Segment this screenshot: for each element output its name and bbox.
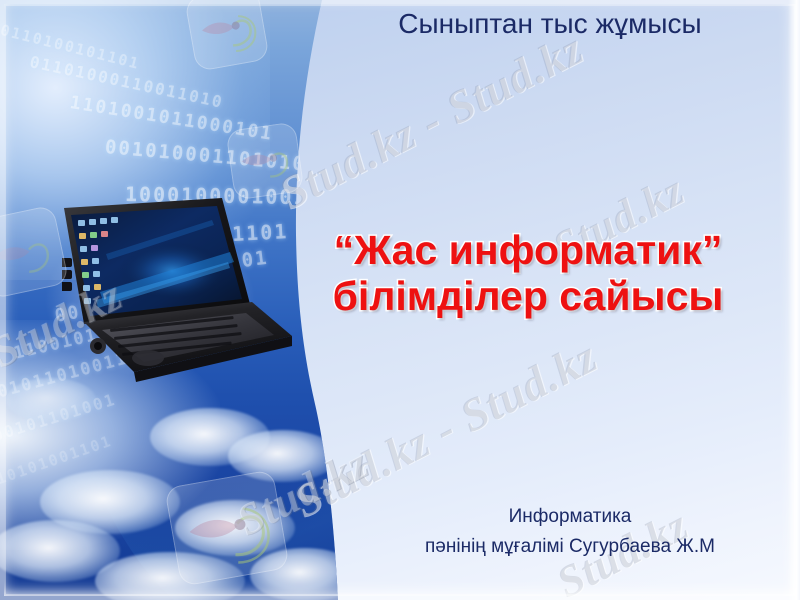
- presentation-slide: 10110100101101 01101000110011010 1101001…: [0, 0, 800, 600]
- binary-line: 001010001101010: [104, 136, 307, 175]
- cloud: [228, 430, 338, 482]
- cloud: [250, 548, 340, 600]
- slide-subtitle-top: Сыныптан тыс жұмысы: [330, 8, 770, 40]
- footer-line-2: пәнінің мұғалімі Сугурбаева Ж.М: [350, 532, 790, 562]
- main-title-line-1: “Жас информатик”: [334, 227, 723, 273]
- slide-main-title: “Жас информатик” білімділер сайысы: [258, 228, 798, 320]
- cloud: [175, 500, 295, 556]
- slide-footer: Информатика пәнінің мұғалімі Сугурбаева …: [350, 502, 790, 562]
- footer-line-1: Информатика: [509, 506, 632, 527]
- main-title-line-2: білімділер сайысы: [258, 274, 798, 320]
